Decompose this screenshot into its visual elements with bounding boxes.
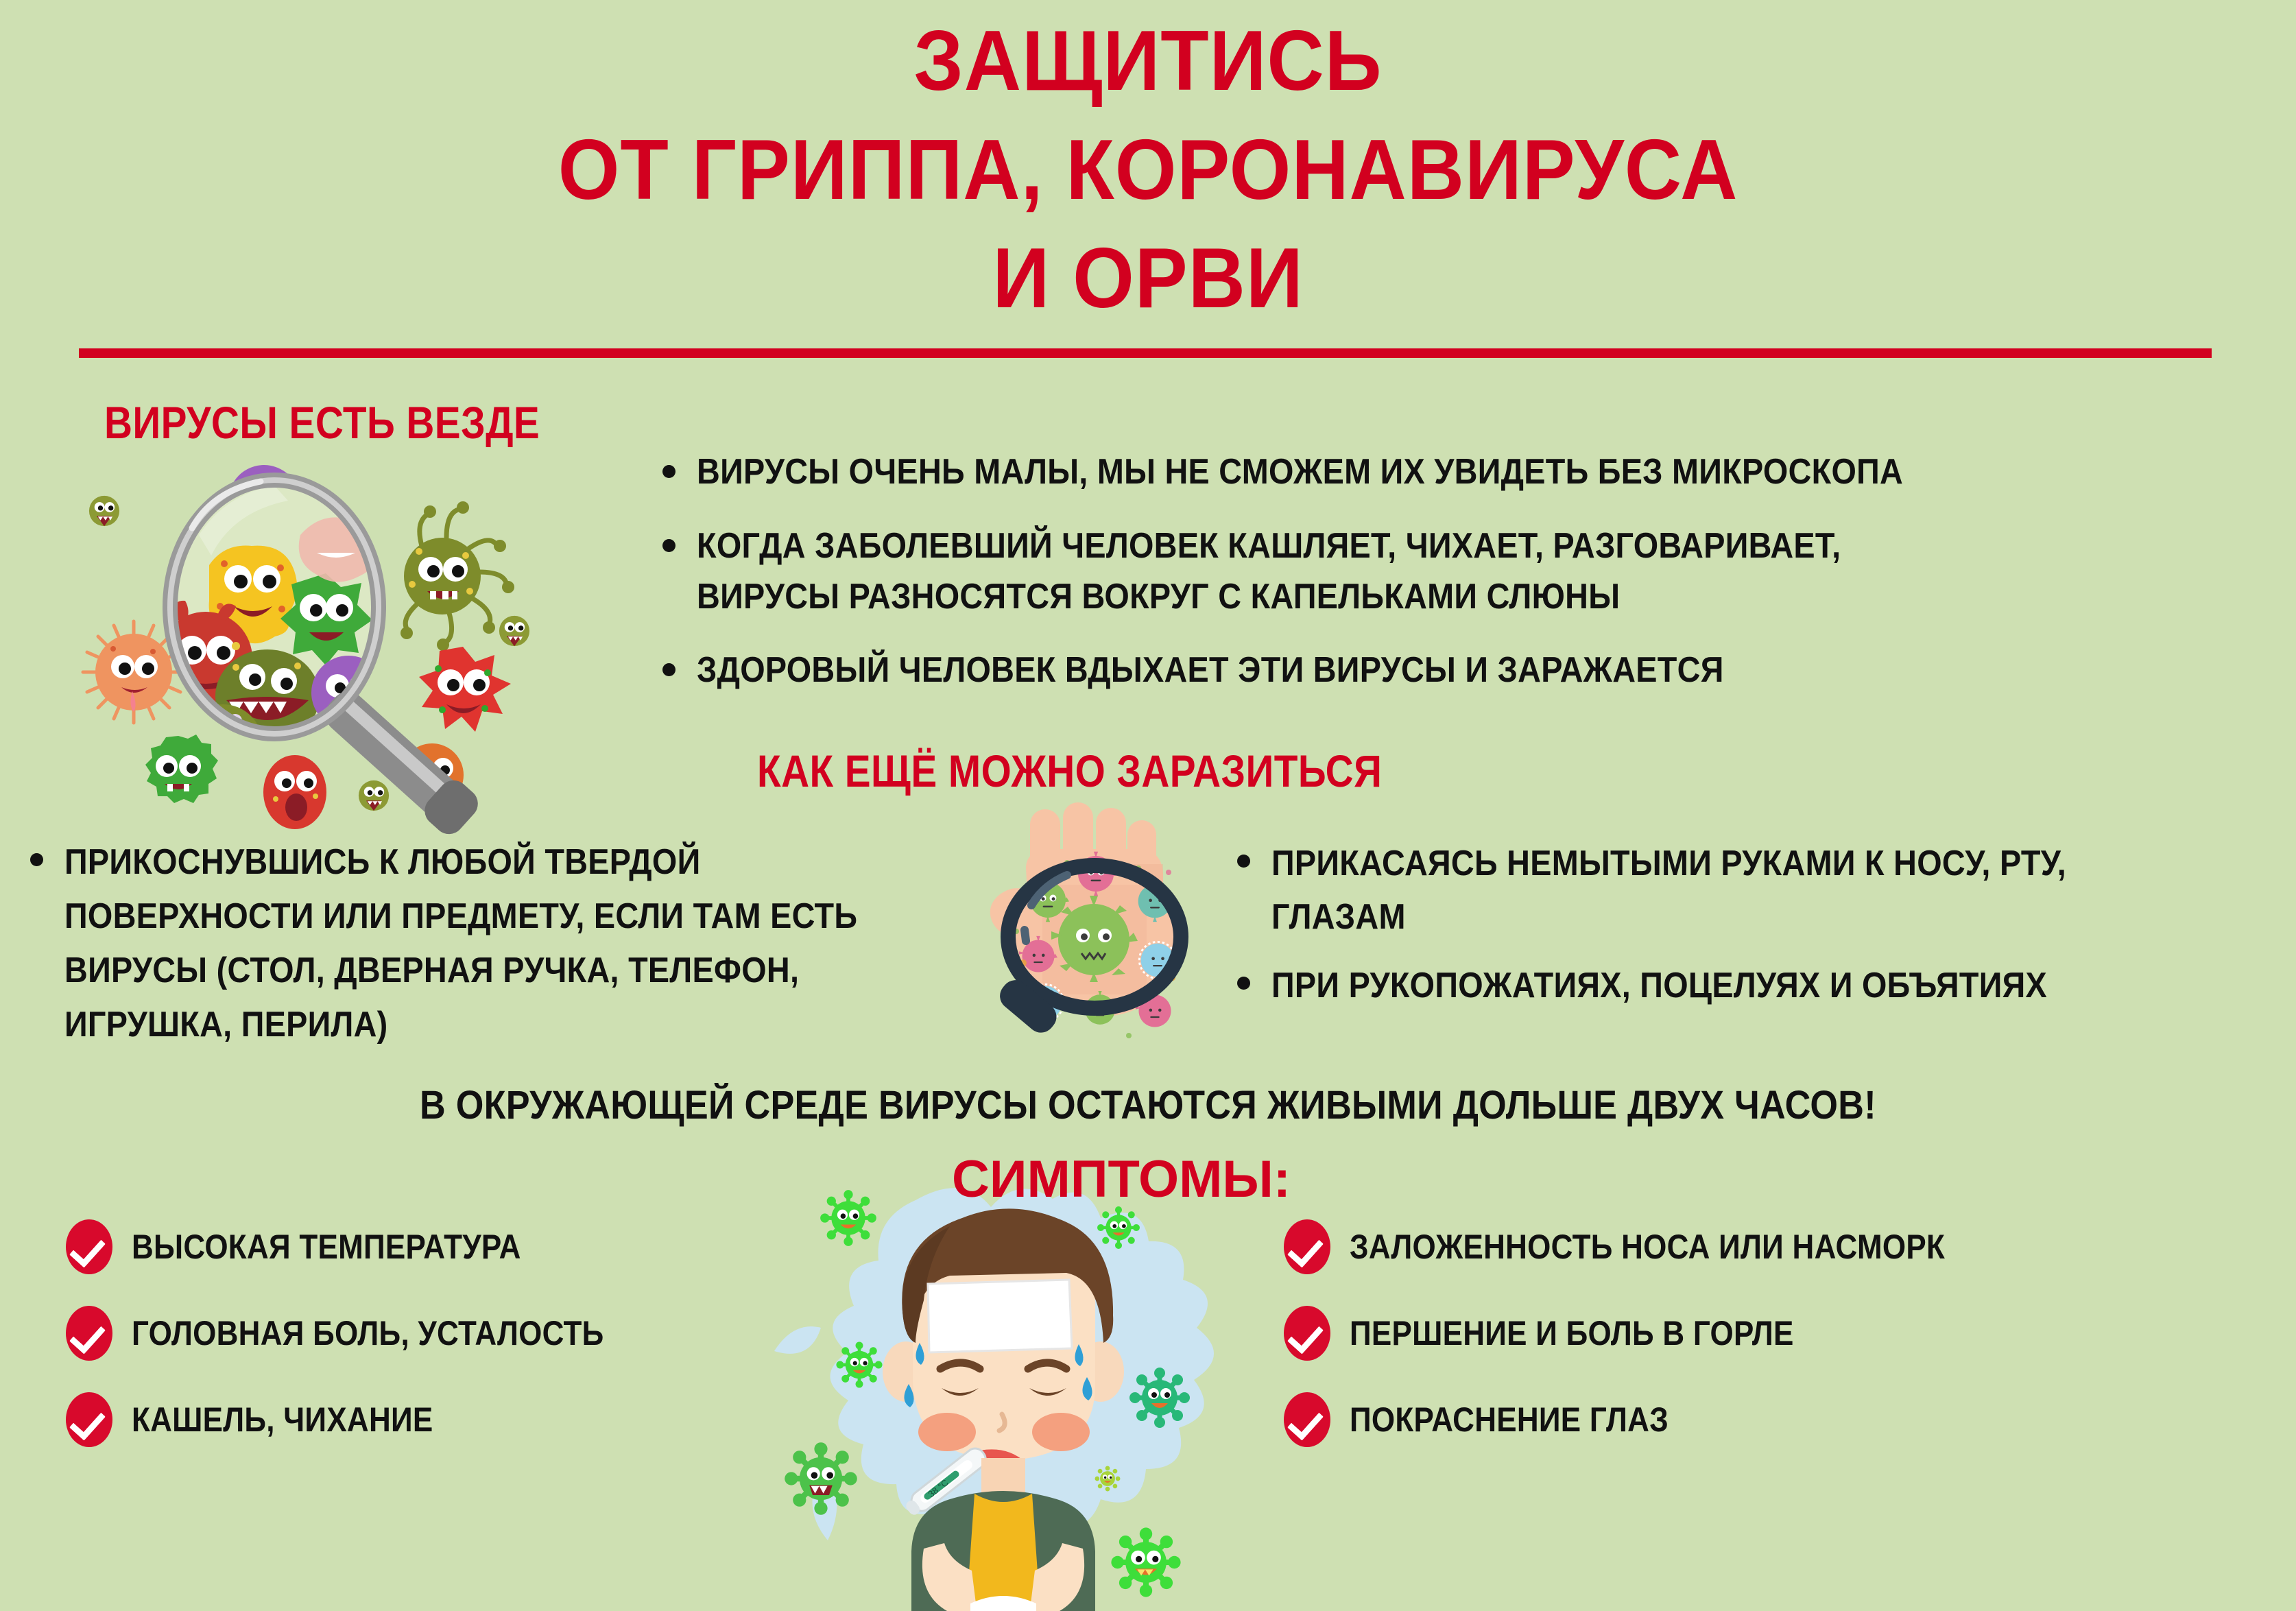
list-item: ПЕРШЕНИЕ И БОЛЬ В ГОРЛЕ — [1284, 1306, 2026, 1361]
bullet-text: ВИРУСЫ ОЧЕНЬ МАЛЫ, МЫ НЕ СМОЖЕМ ИХ УВИДЕ… — [697, 447, 1910, 498]
bullet-text: ПРИКОСНУВШИСЬ К ЛЮБОЙ ТВЕРДОЙ ПОВЕРХНОСТ… — [64, 835, 864, 1052]
check-circle-icon — [1284, 1219, 1330, 1274]
sick-boy-icon: 38 °C — [744, 1159, 1286, 1611]
heading-symptoms: СИМПТОМЫ: — [952, 1149, 1291, 1209]
heading-viruses-everywhere: ВИРУСЫ ЕСТЬ ВЕЗДЕ — [104, 396, 540, 449]
infographic-poster: ЗАЩИТИСЬ ОТ ГРИППА, КОРОНАВИРУСА И ОРВИ … — [0, 0, 2296, 1611]
sick-boy-illustration: 38 °C — [744, 1159, 1286, 1611]
list-item: ГОЛОВНАЯ БОЛЬ, УСТАЛОСТЬ — [66, 1306, 668, 1361]
title-line-3: И ОРВИ — [80, 224, 2216, 333]
check-circle-icon — [66, 1306, 112, 1361]
list-item: ПОКРАСНЕНИЕ ГЛАЗ — [1284, 1392, 2026, 1447]
magnifier-germs-icon — [62, 453, 610, 796]
bullet-text: ПРИ РУКОПОЖАТИЯХ, ПОЦЕЛУЯХ И ОБЪЯТИЯХ — [1271, 959, 2114, 1012]
heading-how-else-infect: КАК ЕЩЁ МОЖНО ЗАРАЗИТЬСЯ — [757, 745, 1382, 797]
symptom-label: ПОКРАСНЕНИЕ ГЛАЗ — [1350, 1400, 1669, 1440]
list-item: ПРИКОСНУВШИСЬ К ЛЮБОЙ ТВЕРДОЙ ПОВЕРХНОСТ… — [21, 835, 953, 1052]
symptom-label: ЗАЛОЖЕННОСТЬ НОСА ИЛИ НАСМОРК — [1350, 1227, 1945, 1267]
magnifier-germs-illustration — [62, 453, 610, 796]
title-line-2: ОТ ГРИППА, КОРОНАВИРУСА — [80, 116, 2216, 225]
list-contaminated-surfaces: ПРИКОСНУВШИСЬ К ЛЮБОЙ ТВЕРДОЙ ПОВЕРХНОСТ… — [21, 835, 953, 1064]
title-divider-rule — [79, 348, 2212, 358]
list-symptoms-right: ЗАЛОЖЕННОСТЬ НОСА ИЛИ НАСМОРК ПЕРШЕНИЕ И… — [1284, 1219, 2026, 1479]
list-item: ЗДОРОВЫЙ ЧЕЛОВЕК ВДЫХАЕТ ЭТИ ВИРУСЫ И ЗА… — [653, 645, 2045, 696]
bullet-text: ПРИКАСАЯСЬ НЕМЫТЫМИ РУКАМИ К НОСУ, РТУ, … — [1271, 837, 2114, 944]
environment-note-text: В ОКРУЖАЮЩЕЙ СРЕДЕ ВИРУСЫ ОСТАЮТСЯ ЖИВЫМ… — [420, 1082, 1876, 1128]
title-line-1: ЗАЩИТИСЬ — [80, 7, 2216, 116]
poster-title: ЗАЩИТИСЬ ОТ ГРИППА, КОРОНАВИРУСА И ОРВИ — [0, 7, 2296, 333]
list-item: ПРИ РУКОПОЖАТИЯХ, ПОЦЕЛУЯХ И ОБЪЯТИЯХ — [1228, 959, 2208, 1012]
check-circle-icon — [66, 1219, 112, 1274]
list-item: ВИРУСЫ ОЧЕНЬ МАЛЫ, МЫ НЕ СМОЖЕМ ИХ УВИДЕ… — [653, 447, 2045, 498]
symptom-label: ГОЛОВНАЯ БОЛЬ, УСТАЛОСТЬ — [132, 1313, 604, 1353]
list-item: ПРИКАСАЯСЬ НЕМЫТЫМИ РУКАМИ К НОСУ, РТУ, … — [1228, 837, 2208, 944]
list-item: КОГДА ЗАБОЛЕВШИЙ ЧЕЛОВЕК КАШЛЯЕТ, ЧИХАЕТ… — [653, 521, 2045, 623]
list-viruses-everywhere: ВИРУСЫ ОЧЕНЬ МАЛЫ, МЫ НЕ СМОЖЕМ ИХ УВИДЕ… — [653, 447, 2045, 719]
check-circle-icon — [1284, 1392, 1330, 1447]
bullet-text: ЗДОРОВЫЙ ЧЕЛОВЕК ВДЫХАЕТ ЭТИ ВИРУСЫ И ЗА… — [697, 645, 1910, 696]
list-item: ЗАЛОЖЕННОСТЬ НОСА ИЛИ НАСМОРК — [1284, 1219, 2026, 1274]
check-circle-icon — [1284, 1306, 1330, 1361]
list-unwashed-hands: ПРИКАСАЯСЬ НЕМЫТЫМИ РУКАМИ К НОСУ, РТУ, … — [1228, 837, 2208, 1027]
symptom-label: ВЫСОКАЯ ТЕМПЕРАТУРА — [132, 1227, 521, 1267]
symptom-label: КАШЕЛЬ, ЧИХАНИЕ — [132, 1400, 433, 1440]
check-circle-icon — [66, 1392, 112, 1447]
environment-survival-note: В ОКРУЖАЮЩЕЙ СРЕДЕ ВИРУСЫ ОСТАЮТСЯ ЖИВЫМ… — [0, 1082, 2296, 1128]
list-item: КАШЕЛЬ, ЧИХАНИЕ — [66, 1392, 668, 1447]
bullet-text: КОГДА ЗАБОЛЕВШИЙ ЧЕЛОВЕК КАШЛЯЕТ, ЧИХАЕТ… — [697, 521, 1910, 623]
list-symptoms-left: ВЫСОКАЯ ТЕМПЕРАТУРА ГОЛОВНАЯ БОЛЬ, УСТАЛ… — [66, 1219, 668, 1479]
list-item: ВЫСОКАЯ ТЕМПЕРАТУРА — [66, 1219, 668, 1274]
symptom-label: ПЕРШЕНИЕ И БОЛЬ В ГОРЛЕ — [1350, 1313, 1794, 1353]
